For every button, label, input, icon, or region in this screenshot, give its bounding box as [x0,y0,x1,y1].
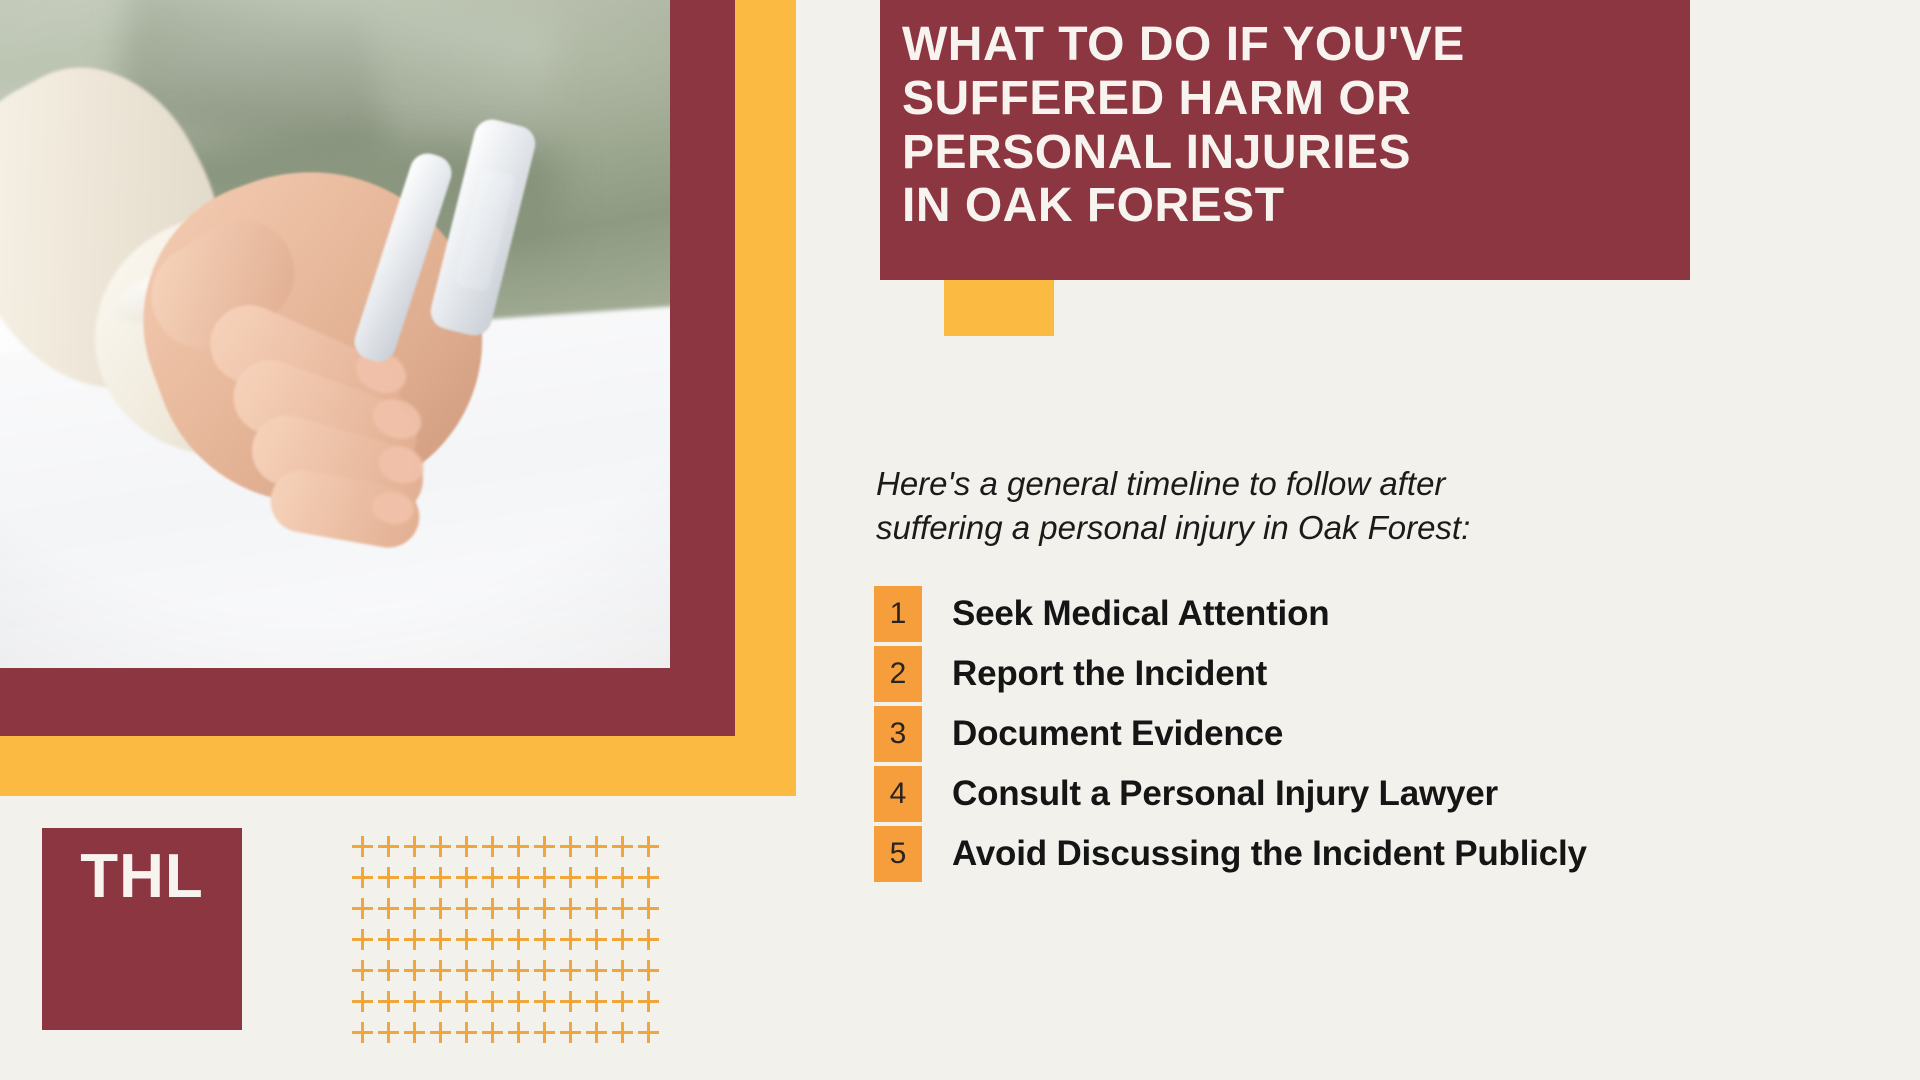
timeline-step-list: 1Seek Medical Attention2Report the Incid… [874,586,1834,886]
plus-icon [352,867,373,888]
thl-logo-text: THL [42,846,242,908]
plus-icon [586,836,607,857]
plus-icon [560,991,581,1012]
plus-icon [456,836,477,857]
plus-icon [430,836,451,857]
plus-icon [430,1022,451,1043]
step-number-badge: 4 [874,766,922,822]
frame-accent-yellow-bottom [0,736,796,796]
plus-icon [482,929,503,950]
plus-icon [378,898,399,919]
plus-icon [456,898,477,919]
header-accent-tab [944,280,1054,336]
plus-icon [430,867,451,888]
plus-icon [352,1022,373,1043]
plus-icon [534,929,555,950]
plus-icon [430,898,451,919]
plus-icon [638,929,659,950]
plus-icon [508,836,529,857]
plus-icon [378,836,399,857]
plus-icon [638,867,659,888]
plus-icon [638,898,659,919]
header-block: WHAT TO DO IF YOU'VE SUFFERED HARM OR PE… [880,0,1690,280]
step-label: Consult a Personal Injury Lawyer [952,774,1498,814]
plus-icon [586,929,607,950]
plus-icon [534,867,555,888]
plus-icon [404,1022,425,1043]
plus-icon [586,867,607,888]
timeline-step-row: 1Seek Medical Attention [874,586,1834,642]
plus-icon [612,991,633,1012]
frame-accent-yellow-right [735,0,796,796]
plus-icon [612,836,633,857]
plus-icon [638,836,659,857]
plus-icon [482,836,503,857]
plus-icon [482,1022,503,1043]
plus-icon [612,929,633,950]
plus-icon [378,867,399,888]
plus-icon [404,960,425,981]
plus-icon [378,929,399,950]
step-number-badge: 5 [874,826,922,882]
plus-icon [638,991,659,1012]
plus-icon [560,898,581,919]
plus-icon [456,929,477,950]
plus-icon [534,991,555,1012]
step-label: Report the Incident [952,654,1267,694]
plus-icon [560,867,581,888]
plus-icon [482,991,503,1012]
step-number-badge: 2 [874,646,922,702]
plus-icon [586,991,607,1012]
plus-icon [560,929,581,950]
step-number-badge: 3 [874,706,922,762]
plus-icon [508,991,529,1012]
plus-icon [456,1022,477,1043]
plus-icon [638,960,659,981]
plus-icon [612,867,633,888]
plus-icon [352,929,373,950]
plus-icon [352,991,373,1012]
plus-icon [586,1022,607,1043]
timeline-step-row: 4Consult a Personal Injury Lawyer [874,766,1834,822]
plus-icon [430,960,451,981]
plus-icon [534,1022,555,1043]
plus-icon [586,898,607,919]
plus-icon [378,1022,399,1043]
photo-vignette [0,0,670,668]
plus-icon [638,1022,659,1043]
plus-icon [456,867,477,888]
infographic-canvas: THL WHAT TO DO IF YOU'VE SUFFERED HARM O… [0,0,1920,1080]
plus-icon [560,836,581,857]
plus-icon [404,991,425,1012]
intro-paragraph: Here's a general timeline to follow afte… [876,462,1756,549]
plus-icon [508,867,529,888]
plus-icon [508,898,529,919]
plus-icon [560,960,581,981]
plus-icon [430,991,451,1012]
plus-icon [456,991,477,1012]
plus-sign-grid-decoration [352,836,662,1054]
plus-icon [430,929,451,950]
plus-icon [612,898,633,919]
step-label: Avoid Discussing the Incident Publicly [952,834,1587,874]
step-label: Document Evidence [952,714,1283,754]
timeline-step-row: 2Report the Incident [874,646,1834,702]
thl-logo[interactable]: THL [42,828,242,1030]
plus-icon [352,960,373,981]
plus-icon [534,960,555,981]
plus-icon [560,1022,581,1043]
plus-icon [378,991,399,1012]
plus-icon [482,960,503,981]
timeline-step-row: 5Avoid Discussing the Incident Publicly [874,826,1834,882]
hospital-patient-photo [0,0,670,668]
plus-icon [508,1022,529,1043]
step-label: Seek Medical Attention [952,594,1329,634]
plus-icon [612,960,633,981]
page-title: WHAT TO DO IF YOU'VE SUFFERED HARM OR PE… [902,18,1670,233]
plus-icon [534,898,555,919]
plus-icon [586,960,607,981]
plus-icon [534,836,555,857]
plus-icon [378,960,399,981]
plus-icon [404,836,425,857]
plus-icon [508,929,529,950]
timeline-step-row: 3Document Evidence [874,706,1834,762]
plus-icon [352,898,373,919]
plus-icon [404,929,425,950]
plus-icon [404,898,425,919]
step-number-badge: 1 [874,586,922,642]
plus-icon [612,1022,633,1043]
plus-icon [508,960,529,981]
plus-icon [352,836,373,857]
plus-icon [404,867,425,888]
plus-icon [482,867,503,888]
plus-icon [482,898,503,919]
plus-icon [456,960,477,981]
